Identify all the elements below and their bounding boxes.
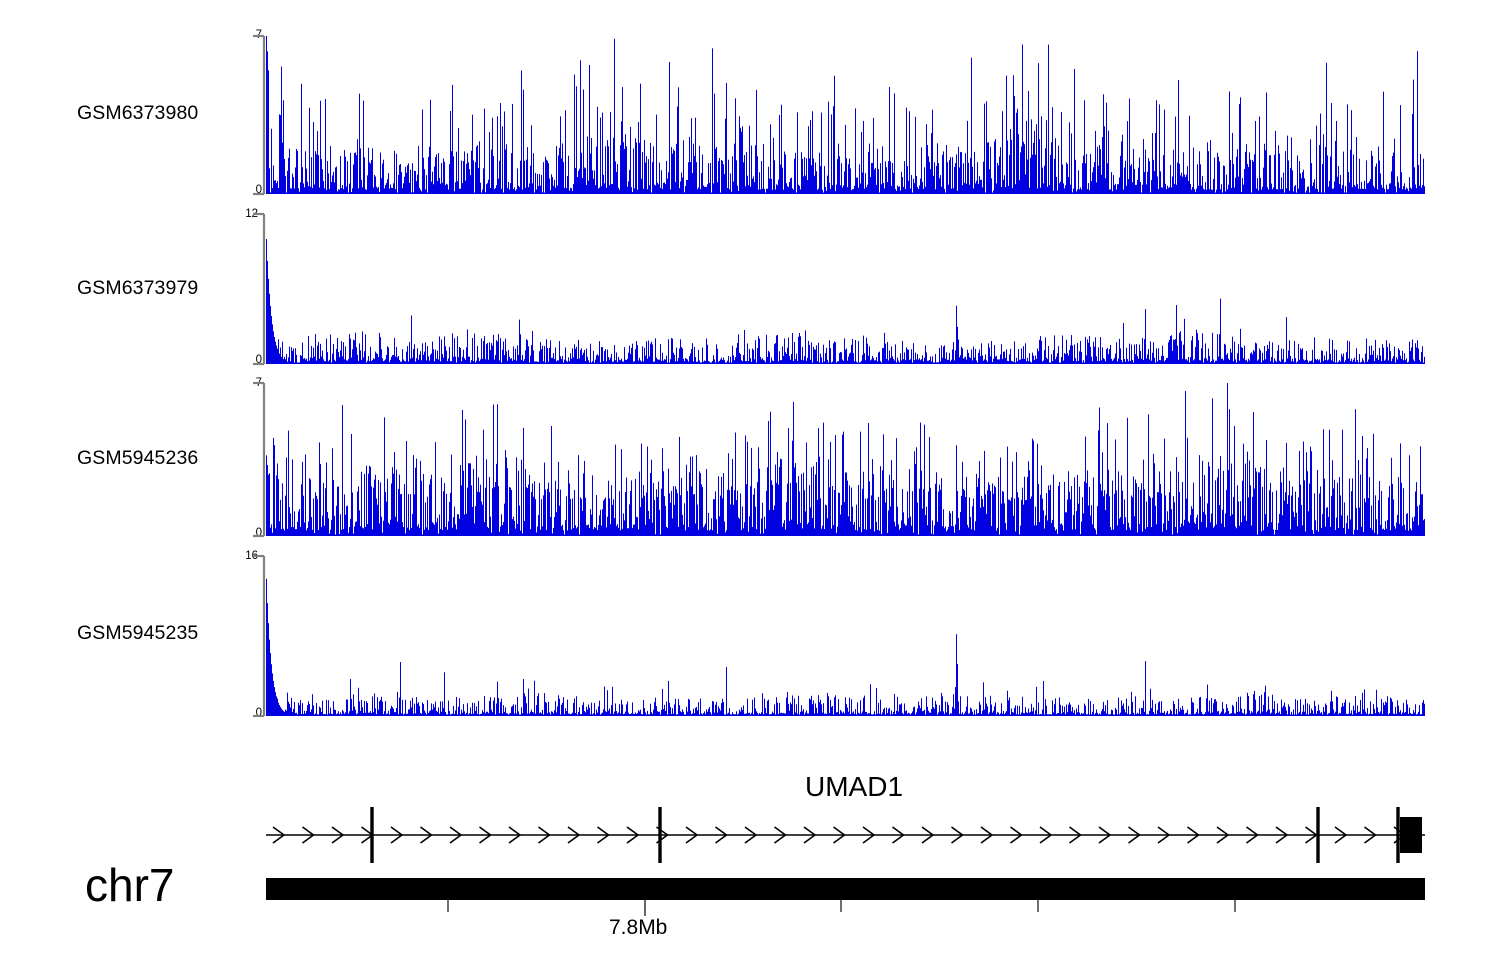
gene-terminal-exon-block [1400, 817, 1422, 853]
genome-browser-view: GSM6373980 7 0 GSM6373979 12 0 GSM594523… [0, 0, 1500, 980]
coverage-canvas-2[interactable] [266, 214, 1425, 364]
coverage-canvas-1[interactable] [266, 36, 1425, 194]
coverage-canvas-4[interactable] [266, 556, 1425, 716]
chromosome-ideogram-bar [266, 878, 1425, 900]
coverage-canvas-3[interactable] [266, 383, 1425, 536]
